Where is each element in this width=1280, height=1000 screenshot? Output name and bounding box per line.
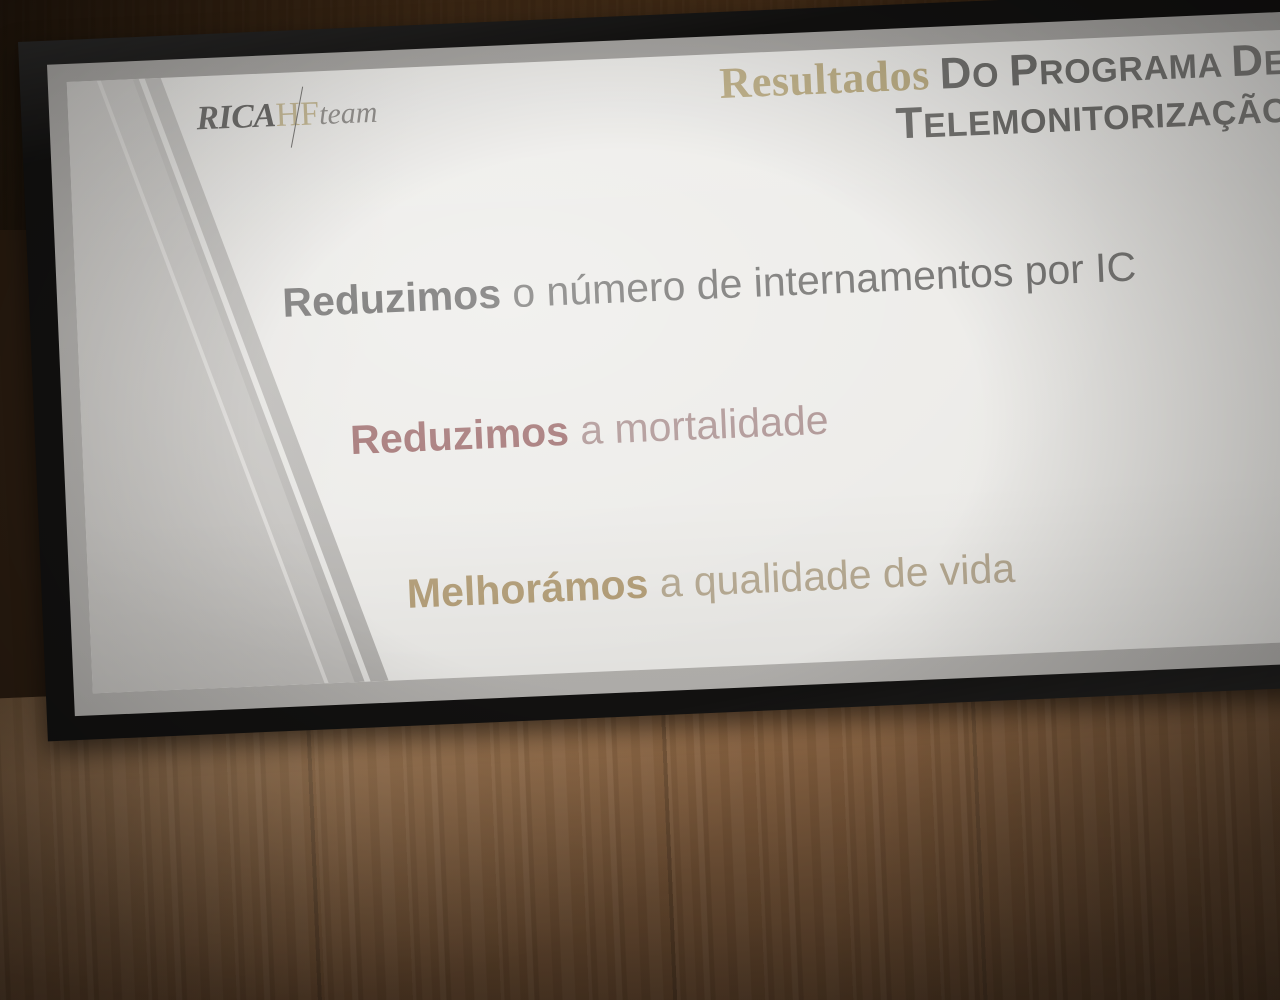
slide-bullet-3: Melhorámos a qualidade de vida bbox=[406, 548, 1016, 615]
bullet-2-rest: a mortalidade bbox=[568, 397, 830, 454]
bullet-3-strong: Melhorámos bbox=[406, 561, 649, 617]
title-de-cap: D bbox=[1230, 36, 1264, 86]
presentation-slide: RICAHFteam Resultados DO PROGRAMA DE TEL… bbox=[67, 29, 1280, 693]
bullet-1-rest: o número de internamentos por IC bbox=[500, 243, 1137, 316]
projection-screen: RICAHFteam Resultados DO PROGRAMA DE TEL… bbox=[18, 0, 1280, 741]
slide-bullet-list: Reduzimos o número de internamentos por … bbox=[76, 239, 1280, 292]
title-de-small: E bbox=[1263, 44, 1280, 83]
photo-scene: RICAHFteam Resultados DO PROGRAMA DE TEL… bbox=[0, 0, 1280, 1000]
bullet-3-rest: a qualidade de vida bbox=[647, 545, 1016, 607]
title-do-cap: D bbox=[939, 48, 973, 98]
title-tele-small: ELEMONITORIZAÇÃO bbox=[923, 92, 1280, 146]
logo-text-team: team bbox=[318, 96, 378, 131]
slide-bullet-2: Reduzimos a mortalidade bbox=[349, 400, 829, 461]
bullet-2-strong: Reduzimos bbox=[349, 408, 569, 463]
slide-bullet-1: Reduzimos o número de internamentos por … bbox=[282, 246, 1138, 323]
title-programa-small: ROGRAMA bbox=[1038, 46, 1232, 92]
title-do-small: O bbox=[971, 56, 1010, 96]
bullet-1-strong: Reduzimos bbox=[281, 271, 501, 326]
title-tele-cap: T bbox=[895, 99, 925, 149]
title-programa-cap: P bbox=[1008, 45, 1040, 95]
rica-hf-team-logo: RICAHFteam bbox=[196, 93, 379, 139]
logo-text-rica: RICA bbox=[196, 97, 277, 137]
